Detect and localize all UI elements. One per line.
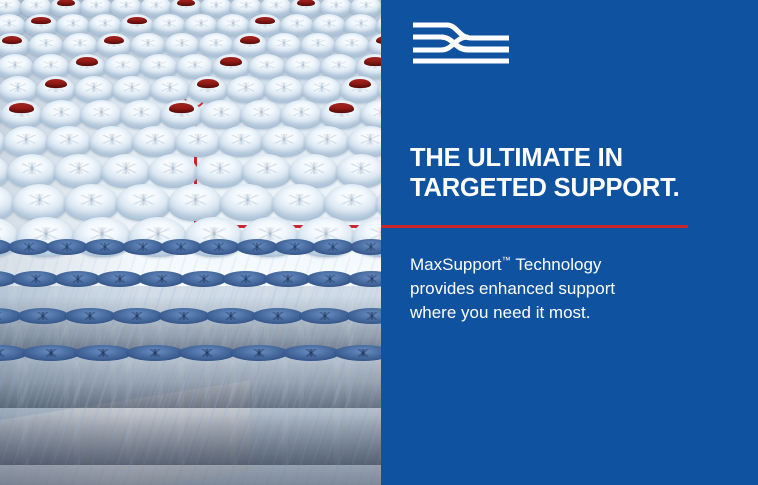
- support-coil-cap: [178, 345, 236, 361]
- comfort-coil-top: [220, 184, 275, 221]
- comfort-coil-top: [266, 33, 302, 57]
- comfort-coil-top: [46, 126, 92, 157]
- coil-row: [0, 154, 381, 188]
- support-coil: [178, 352, 236, 485]
- comfort-coil-top: [168, 184, 223, 221]
- support-coil-cap: [312, 239, 354, 255]
- accent-coil-top: [68, 54, 106, 79]
- support-coil-cap: [12, 271, 59, 287]
- comfort-coil-top: [74, 76, 114, 103]
- support-coil-cap: [350, 239, 381, 255]
- comfort-coil-top: [261, 126, 307, 157]
- comfort-coil-top: [264, 76, 304, 103]
- comfort-coil-top: [132, 126, 178, 157]
- support-coil-cap: [180, 271, 227, 287]
- comfort-coil-top: [240, 100, 283, 129]
- accent-coil-top: [160, 100, 203, 129]
- support-coil: [74, 352, 132, 485]
- support-coil-cap: [138, 271, 185, 287]
- comfort-coil-top: [148, 154, 198, 188]
- support-coil-cap: [96, 271, 143, 287]
- comfort-coil-top: [272, 184, 327, 221]
- accent-coil-top: [340, 76, 380, 103]
- coil-row: [0, 184, 381, 221]
- support-coil-cap: [252, 308, 304, 324]
- comfort-coil-top: [175, 126, 221, 157]
- support-coil-cap: [111, 308, 163, 324]
- support-coil: [282, 352, 340, 485]
- wave-lines-logo-icon: [411, 18, 511, 68]
- comfort-coil-top: [324, 184, 379, 221]
- support-coil: [334, 352, 381, 485]
- support-coil-texture: [74, 358, 132, 485]
- comfort-coil-top: [89, 126, 135, 157]
- support-coil-cap: [74, 345, 132, 361]
- coil-row: [0, 100, 381, 129]
- comfort-coil-top: [40, 100, 83, 129]
- support-coil-cap: [222, 271, 269, 287]
- comfort-coil-top: [242, 154, 292, 188]
- support-coil-cap: [46, 239, 88, 255]
- brand-name: MaxSupport: [410, 255, 502, 274]
- support-coil-texture: [282, 358, 340, 485]
- comfort-coil-top: [80, 100, 123, 129]
- support-coil-texture: [334, 358, 381, 485]
- accent-coil-top: [320, 100, 363, 129]
- support-coil-texture: [126, 358, 184, 485]
- support-coil-cap: [158, 308, 210, 324]
- trademark-symbol: ™: [502, 255, 511, 265]
- comfort-coil-top: [101, 154, 151, 188]
- support-coil-cap: [274, 239, 316, 255]
- support-coil: [126, 352, 184, 485]
- comfort-coil-top: [120, 100, 163, 129]
- comfort-coil-top: [284, 54, 322, 79]
- support-coil-texture: [22, 358, 80, 485]
- page-title: THE ULTIMATE IN TARGETED SUPPORT.: [410, 143, 740, 203]
- accent-coil-top: [188, 76, 228, 103]
- comfort-coil-top: [54, 154, 104, 188]
- comfort-coil-top: [304, 126, 350, 157]
- comfort-coil-top: [320, 54, 358, 79]
- comfort-coil-top: [336, 154, 381, 188]
- support-coil-cap: [160, 239, 202, 255]
- comfort-coil-top: [302, 76, 342, 103]
- support-coil: [230, 352, 288, 485]
- comfort-coil-top: [226, 76, 266, 103]
- comfort-coil-top: [0, 76, 38, 103]
- coil-row: [0, 126, 381, 157]
- comfort-coil-top: [200, 100, 243, 129]
- support-coil-cap: [264, 271, 311, 287]
- comfort-coil-top: [289, 154, 339, 188]
- support-coil-cap: [306, 271, 353, 287]
- support-coil-row: [0, 352, 381, 485]
- comfort-coil-top: [360, 100, 381, 129]
- comfort-coil-top: [104, 54, 142, 79]
- support-coil-cap: [22, 345, 80, 361]
- support-coil-cap: [64, 308, 116, 324]
- support-coil-cap: [17, 308, 69, 324]
- support-coil-cap: [198, 239, 240, 255]
- body-copy: MaxSupport™ Technology provides enhanced…: [410, 248, 710, 325]
- support-coil-cap: [126, 345, 184, 361]
- support-coil-texture: [178, 358, 236, 485]
- comfort-coil-top: [116, 184, 171, 221]
- support-coil-cap: [122, 239, 164, 255]
- content-panel: THE ULTIMATE IN TARGETED SUPPORT. MaxSup…: [381, 0, 758, 485]
- comfort-coil-top: [150, 76, 190, 103]
- support-coil-cap: [236, 239, 278, 255]
- support-coil-cap: [205, 308, 257, 324]
- accent-coil-top: [36, 76, 76, 103]
- comfort-coil-top: [62, 33, 98, 57]
- comfort-coil-top: [280, 100, 323, 129]
- support-coil-cap: [348, 271, 381, 287]
- comfort-coil-top: [3, 126, 49, 157]
- support-coil-texture: [230, 358, 288, 485]
- support-coil-cap: [54, 271, 101, 287]
- support-coil-cap: [282, 345, 340, 361]
- support-coil-cap: [84, 239, 126, 255]
- support-coil-cap: [346, 308, 381, 324]
- mattress-photo: [0, 0, 381, 485]
- support-coil-cap: [299, 308, 351, 324]
- accent-coil-top: [0, 100, 43, 129]
- comfort-coil-top: [32, 54, 70, 79]
- comfort-coil-top: [347, 126, 381, 157]
- accent-rule: [381, 225, 688, 228]
- support-coil-cap: [8, 239, 50, 255]
- support-coil-cap: [334, 345, 381, 361]
- support-coil: [22, 352, 80, 485]
- comfort-coil-top: [12, 184, 67, 221]
- comfort-coil-top: [7, 154, 57, 188]
- comfort-coil-top: [112, 76, 152, 103]
- support-coil-cap: [230, 345, 288, 361]
- comfort-coil-top: [218, 126, 264, 157]
- comfort-coil-top: [64, 184, 119, 221]
- promo-banner: THE ULTIMATE IN TARGETED SUPPORT. MaxSup…: [0, 0, 758, 485]
- comfort-coil-top: [195, 154, 245, 188]
